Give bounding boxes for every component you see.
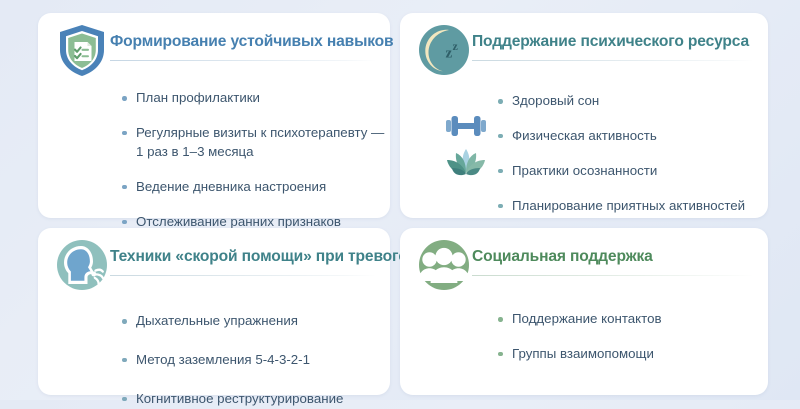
card-header: Формирование устойчивых навыков (38, 13, 390, 73)
title-divider (110, 60, 376, 61)
list-item: Практики осознанности (498, 162, 768, 181)
list-item: Ведение дневника настроения (122, 178, 390, 197)
list-item: Метод заземления 5-4-3-2-1 (122, 351, 390, 370)
card-title: Формирование устойчивых навыков (110, 33, 378, 51)
list-item: Планирование приятных активностей (498, 197, 768, 216)
title-divider (110, 275, 376, 276)
card-social-support: Социальная поддержка Поддержание контакт… (400, 228, 768, 395)
infographic-canvas: Формирование устойчивых навыков План про… (0, 0, 800, 400)
list-item: План профилактики (122, 89, 390, 108)
breathing-head-icon (54, 237, 110, 293)
people-group-icon (416, 237, 472, 293)
list-item: Регулярные визиты к психотерапевту — 1 р… (122, 124, 390, 162)
title-divider (472, 275, 754, 276)
title-divider (472, 60, 754, 61)
card-title: Поддержание психического ресурса (472, 33, 756, 51)
card-header: Техники «скорой помощи» при тревоге (38, 228, 390, 288)
shield-checklist-icon (54, 22, 110, 78)
card-header: z z Поддержание психического ресурса (400, 13, 768, 73)
card-title: Техники «скорой помощи» при тревоге (110, 248, 378, 266)
bullet-list: План профилактики Регулярные визиты к пс… (38, 73, 390, 250)
moon-sleep-icon: z z (416, 22, 472, 78)
card-sustainable-skills: Формирование устойчивых навыков План про… (38, 13, 390, 218)
list-item: Группы взаимопомощи (498, 345, 768, 364)
list-item: Когнитивное реструктурирование (122, 390, 390, 409)
svg-text:z: z (446, 46, 453, 62)
card-title: Социальная поддержка (472, 248, 756, 266)
card-emergency-techniques: Техники «скорой помощи» при тревоге Дыха… (38, 228, 390, 395)
list-item: Поддержание контактов (498, 310, 768, 329)
card-grid: Формирование устойчивых навыков План про… (38, 13, 760, 395)
bullet-list: Здоровый сон Физическая активность Практ… (400, 73, 768, 216)
svg-text:z: z (453, 39, 459, 53)
bullet-list: Дыхательные упражнения Метод заземления … (38, 288, 390, 409)
list-item: Дыхательные упражнения (122, 312, 390, 331)
card-header: Социальная поддержка (400, 228, 768, 288)
list-item: Физическая активность (498, 127, 768, 146)
card-mental-resource: z z Поддержание психического ресурса (400, 13, 768, 218)
bullet-list: Поддержание контактов Группы взаимопомощ… (400, 288, 768, 364)
list-item: Здоровый сон (498, 92, 768, 111)
